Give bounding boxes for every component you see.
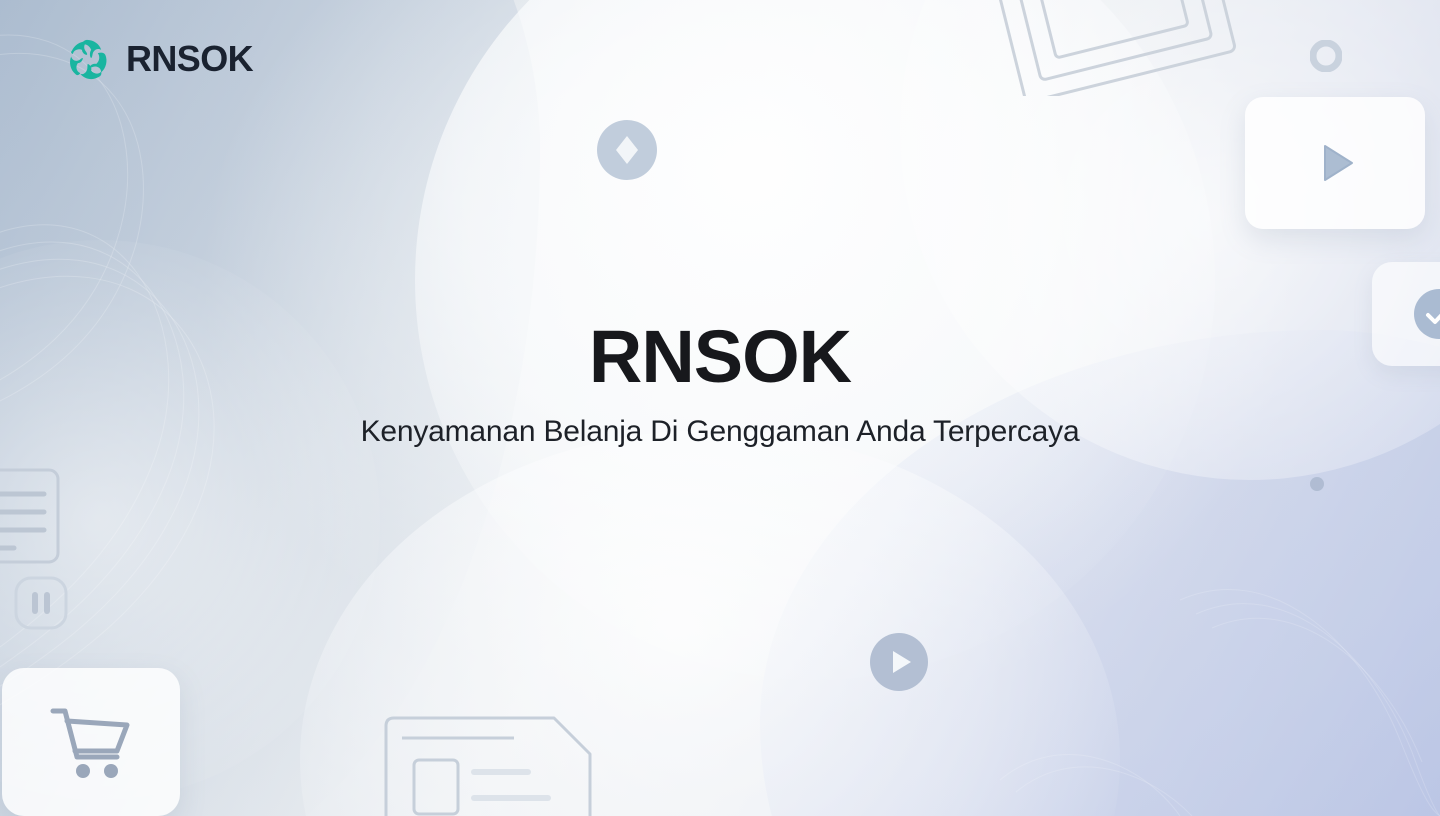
splash-screen: RNSOK RNSOK Kenyamanan Belanja Di Gengga… (0, 0, 1440, 816)
document-large-decoration (378, 708, 606, 816)
background-blob-bottom (300, 430, 1120, 816)
ring-icon (1310, 40, 1342, 72)
diamond-icon (597, 120, 657, 180)
play-card-decoration (1245, 97, 1425, 229)
pause-badge-decoration (13, 573, 69, 633)
diamond-badge-decoration (597, 120, 657, 180)
page-subtitle: Kenyamanan Belanja Di Genggaman Anda Ter… (361, 414, 1080, 450)
page-title: RNSOK (589, 318, 851, 396)
ring-decoration (1310, 40, 1342, 72)
accent-dot-decoration (1310, 477, 1324, 491)
document-lines-icon (0, 466, 70, 568)
cart-card-decoration (2, 668, 180, 816)
shopping-cart-icon (45, 699, 137, 785)
document-lines-decoration (0, 466, 70, 568)
play-icon (1306, 134, 1364, 192)
brand-logo[interactable]: RNSOK (62, 34, 253, 84)
play-badge-decoration (870, 633, 928, 691)
hero-block: RNSOK Kenyamanan Belanja Di Genggaman An… (0, 318, 1440, 450)
brand-wordmark: RNSOK (126, 41, 253, 77)
swirl-logo-icon (62, 34, 112, 84)
frames-icon (985, 0, 1245, 96)
pause-icon (13, 573, 69, 633)
play-icon (870, 633, 928, 691)
document-icon (378, 708, 606, 816)
frame-stack-decoration (985, 0, 1245, 96)
